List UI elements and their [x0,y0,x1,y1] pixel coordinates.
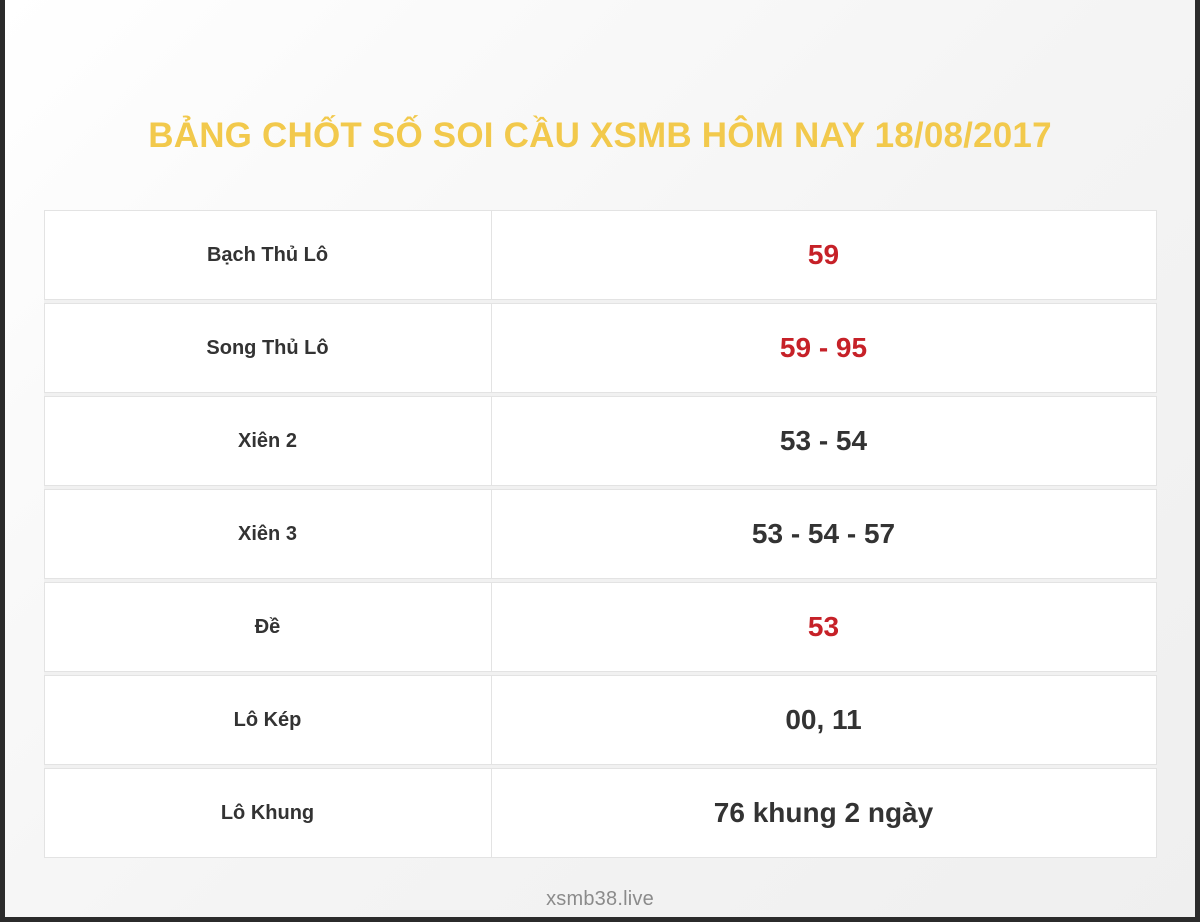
page-frame: BẢNG CHỐT SỐ SOI CẦU XSMB HÔM NAY 18/08/… [0,0,1200,922]
table-row: Song Thủ Lô 59 - 95 [44,303,1157,393]
prediction-table-body: Bạch Thủ Lô 59 Song Thủ Lô 59 - 95 [44,210,1157,858]
page-title-container: BẢNG CHỐT SỐ SOI CẦU XSMB HÔM NAY 18/08/… [5,94,1195,179]
prediction-table: Bạch Thủ Lô 59 Song Thủ Lô 59 - 95 [44,210,1157,858]
row-label-song-thu-lo: Song Thủ Lô [44,303,492,393]
footer: xsmb38.live [5,888,1195,911]
row-label-bach-thu-lo: Bạch Thủ Lô [44,210,492,300]
table-row: Lô Khung 76 khung 2 ngày [44,768,1157,858]
row-value-xien-2: 53 - 54 [492,396,1157,486]
row-value-song-thu-lo: 59 - 95 [492,303,1157,393]
row-value-bach-thu-lo: 59 [492,210,1157,300]
row-value-de: 53 [492,582,1157,672]
row-value-lo-kep: 00, 11 [492,675,1157,765]
row-value-xien-3: 53 - 54 - 57 [492,489,1157,579]
page-title: BẢNG CHỐT SỐ SOI CẦU XSMB HÔM NAY 18/08/… [148,117,1052,156]
row-label-lo-khung: Lô Khung [44,768,492,858]
page-surface: BẢNG CHỐT SỐ SOI CẦU XSMB HÔM NAY 18/08/… [5,0,1195,917]
table-row: Lô Kép 00, 11 [44,675,1157,765]
prediction-table-container: Bạch Thủ Lô 59 Song Thủ Lô 59 - 95 [44,210,1157,858]
table-row: Xiên 3 53 - 54 - 57 [44,489,1157,579]
row-label-xien-2: Xiên 2 [44,396,492,486]
row-value-lo-khung: 76 khung 2 ngày [492,768,1157,858]
table-row: Bạch Thủ Lô 59 [44,210,1157,300]
table-row: Xiên 2 53 - 54 [44,396,1157,486]
table-row: Đề 53 [44,582,1157,672]
row-label-de: Đề [44,582,492,672]
site-watermark: xsmb38.live [546,888,654,910]
row-label-xien-3: Xiên 3 [44,489,492,579]
row-label-lo-kep: Lô Kép [44,675,492,765]
